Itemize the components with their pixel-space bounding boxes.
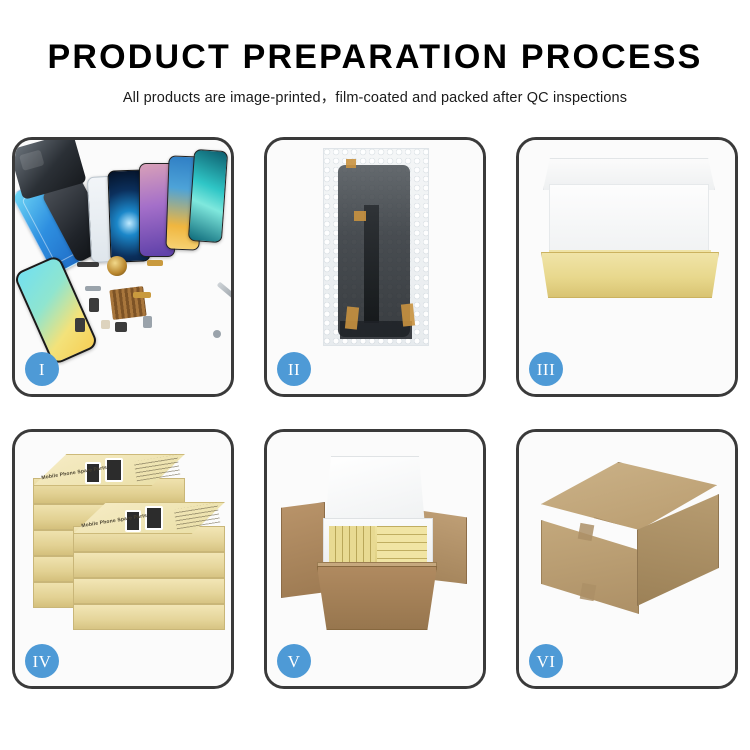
sim-tray-part bbox=[143, 316, 152, 328]
tape-mark-middle bbox=[354, 211, 366, 221]
carton-tape-upper bbox=[578, 523, 595, 541]
earpiece-part bbox=[77, 262, 99, 267]
carton-body bbox=[317, 566, 437, 630]
process-step-6: VI bbox=[516, 429, 738, 689]
metal-bracket-part bbox=[85, 286, 101, 291]
process-step-1: I bbox=[12, 137, 234, 397]
packed-yellow-boxes bbox=[329, 526, 427, 566]
step-badge-5: V bbox=[277, 644, 311, 678]
step-badge-6: VI bbox=[529, 644, 563, 678]
tape-mark-bottom-left bbox=[345, 306, 359, 329]
box-artwork-screen bbox=[145, 506, 163, 530]
process-step-3: III bbox=[516, 137, 738, 397]
ribbon-cable-part bbox=[133, 292, 151, 298]
step-badge-1: I bbox=[25, 352, 59, 386]
header: PRODUCT PREPARATION PROCESS All products… bbox=[0, 0, 750, 107]
white-foam-sheet bbox=[549, 184, 709, 256]
flex-cable-strip bbox=[364, 205, 379, 323]
stacked-box bbox=[73, 578, 225, 604]
bubble-wrap-sleeve bbox=[323, 148, 429, 346]
button-part bbox=[101, 320, 110, 329]
phone-screen-teal bbox=[188, 149, 228, 243]
screw-part bbox=[213, 330, 221, 338]
process-step-4: Mobile Phone Spare Parts Mobile Phone Sp… bbox=[12, 429, 234, 689]
step-badge-2: II bbox=[277, 352, 311, 386]
carton-flap-left bbox=[281, 502, 325, 598]
screwdriver-tool bbox=[217, 282, 231, 304]
box-artwork-screen bbox=[105, 458, 123, 482]
stacked-box bbox=[73, 604, 225, 630]
product-preparation-infographic: PRODUCT PREPARATION PROCESS All products… bbox=[0, 0, 750, 750]
camera-lens-part bbox=[107, 256, 127, 276]
speaker-part bbox=[115, 322, 127, 332]
tape-mark-top bbox=[346, 159, 356, 168]
process-step-2: II bbox=[264, 137, 486, 397]
vibrator-part bbox=[75, 318, 85, 332]
carton-tape-lower bbox=[580, 583, 597, 601]
yellow-box-body bbox=[541, 252, 719, 298]
phone-screen-large bbox=[15, 254, 99, 366]
tape-mark-bottom-right bbox=[401, 303, 415, 326]
step-badge-3: III bbox=[529, 352, 563, 386]
process-step-grid: I II bbox=[12, 137, 738, 689]
page-subtitle: All products are image-printed，film-coat… bbox=[0, 86, 750, 107]
stacked-box bbox=[73, 552, 225, 578]
foam-cooler-lid bbox=[325, 456, 425, 526]
connector-part bbox=[89, 298, 99, 312]
page-title: PRODUCT PREPARATION PROCESS bbox=[0, 40, 750, 74]
process-step-5: V bbox=[264, 429, 486, 689]
flex-cable-part bbox=[147, 260, 163, 266]
step-badge-4: IV bbox=[25, 644, 59, 678]
